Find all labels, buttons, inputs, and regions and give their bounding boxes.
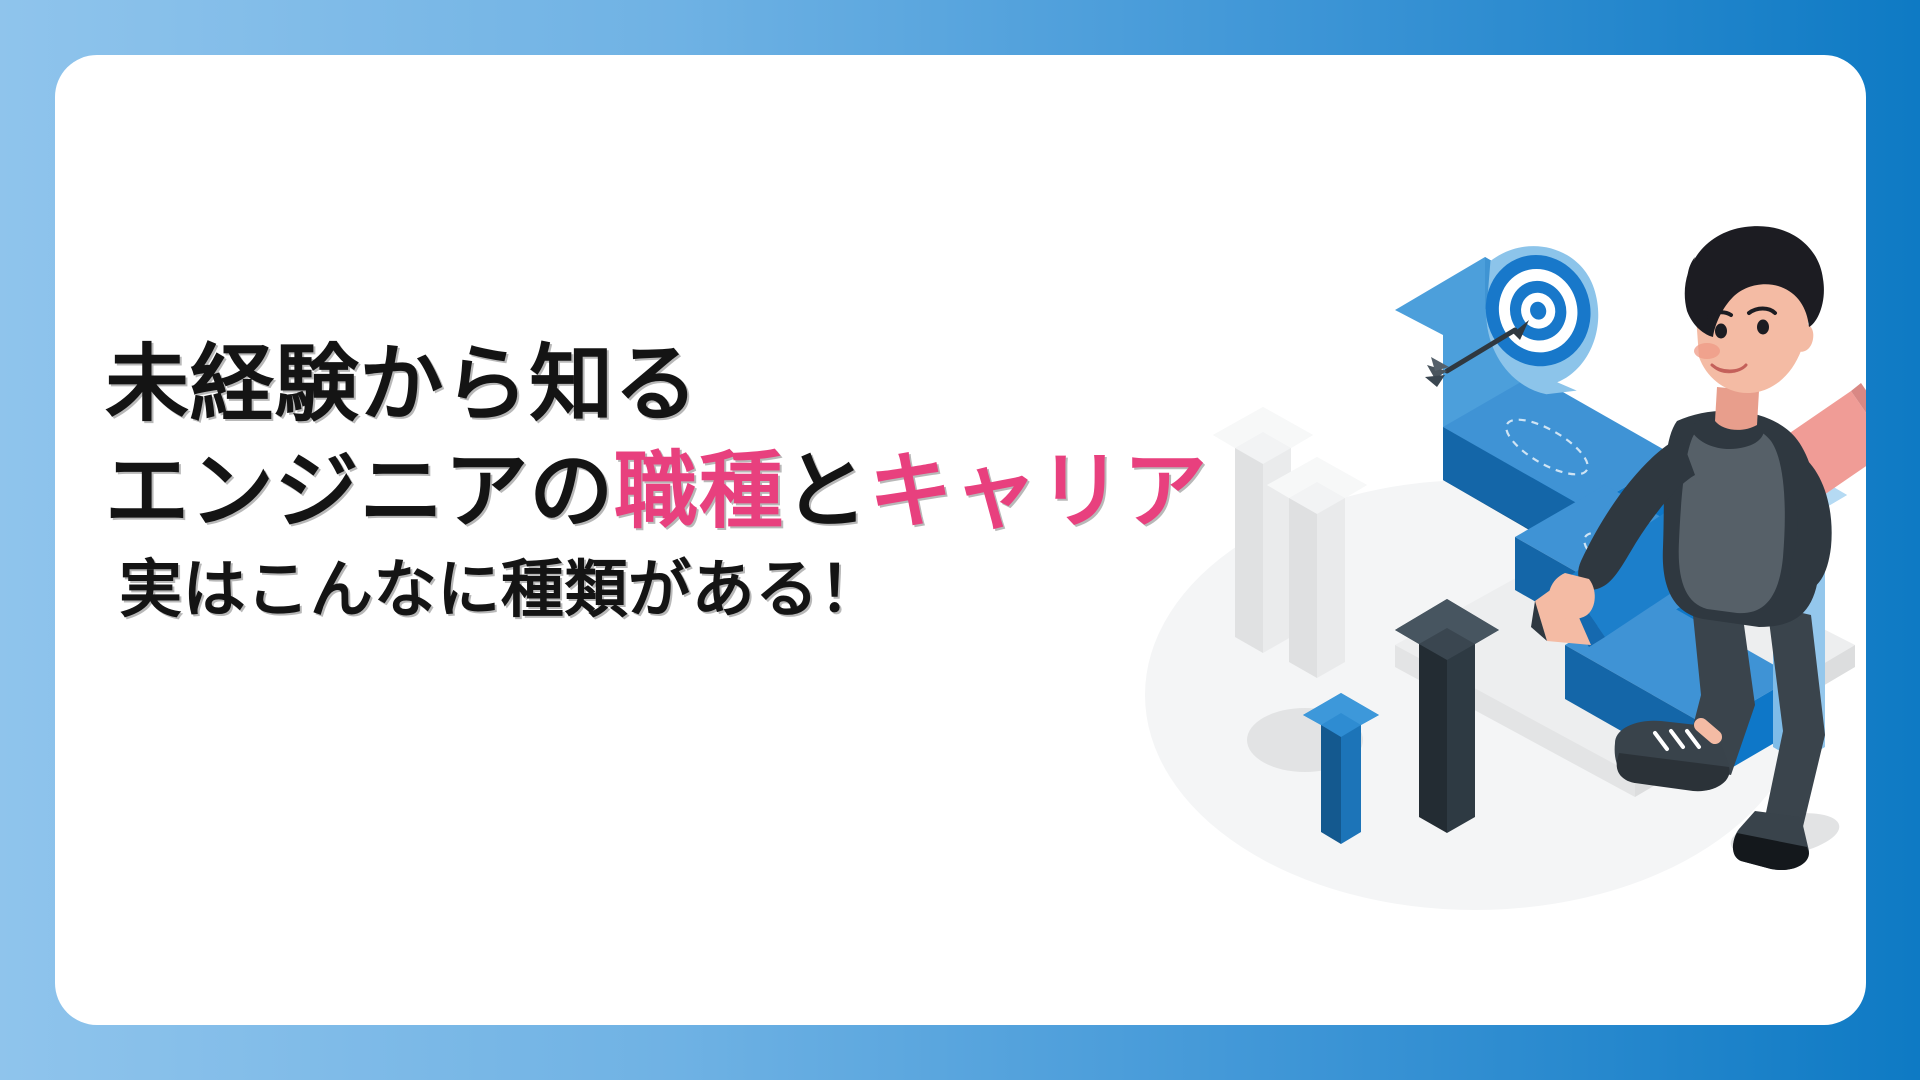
headline-line2-accent-1: 職種 <box>614 442 784 540</box>
headline-line-2: エンジニアの職種とキャリア <box>105 442 1165 541</box>
headline-line-1: 未経験から知る <box>105 335 1165 434</box>
career-staircase-illustration <box>1095 175 1866 915</box>
headline-line2-accent-2: キャリア <box>869 442 1208 540</box>
headline-block: 未経験から知る エンジニアの職種とキャリア 実はこんなに種類がある！ <box>105 335 1165 628</box>
content-card: 未経験から知る エンジニアの職種とキャリア 実はこんなに種類がある！ <box>55 55 1866 1025</box>
front-shoe <box>1615 721 1730 791</box>
headline-line2-seg2: と <box>784 442 869 540</box>
page-root: 未経験から知る エンジニアの職種とキャリア 実はこんなに種類がある！ <box>0 0 1920 1080</box>
hand <box>1549 573 1595 619</box>
headline-line-3: 実はこんなに種類がある！ <box>119 553 1165 627</box>
headline-line2-seg1: エンジニアの <box>105 442 614 540</box>
back-shoe <box>1733 811 1809 870</box>
